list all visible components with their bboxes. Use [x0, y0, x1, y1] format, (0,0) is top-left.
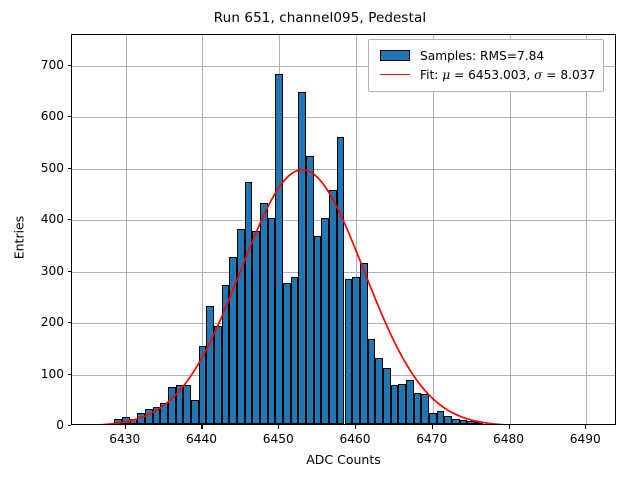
y-tick-label-300: 300 [41, 264, 64, 278]
y-tick-mark-0 [68, 425, 72, 426]
x-tick-mark-6480 [509, 425, 510, 429]
y-tick-label-200: 200 [41, 315, 64, 329]
y-tick-label-100: 100 [41, 367, 64, 381]
y-tick-mark-400 [68, 219, 72, 220]
y-tick-label-400: 400 [41, 212, 64, 226]
x-tick-label-6430: 6430 [109, 432, 140, 446]
y-tick-mark-500 [68, 168, 72, 169]
legend-item-samples: Samples: RMS=7.84 [377, 46, 595, 65]
x-tick-mark-6440 [201, 425, 202, 429]
legend-patch-icon [377, 50, 413, 61]
y-tick-label-500: 500 [41, 161, 64, 175]
legend: Samples: RMS=7.84 Fit: μ = 6453.003, σ =… [368, 39, 604, 92]
y-tick-label-600: 600 [41, 109, 64, 123]
histogram-figure: Run 651, channel095, Pedestal 0100200300… [0, 0, 640, 480]
x-tick-label-6480: 6480 [493, 432, 524, 446]
x-tick-label-6450: 6450 [263, 432, 294, 446]
legend-label-samples: Samples: RMS=7.84 [420, 49, 544, 63]
gaussian-fit-curve [72, 35, 615, 424]
plot-area [71, 34, 616, 425]
y-tick-mark-300 [68, 271, 72, 272]
legend-item-fit: Fit: μ = 6453.003, σ = 8.037 [377, 65, 595, 84]
y-tick-mark-700 [68, 65, 72, 66]
x-axis-label: ADC Counts [71, 452, 616, 467]
x-tick-mark-6430 [125, 425, 126, 429]
y-axis-label: Entries [11, 216, 26, 260]
y-tick-mark-200 [68, 322, 72, 323]
x-tick-mark-6450 [278, 425, 279, 429]
x-tick-mark-6460 [355, 425, 356, 429]
fit-path [80, 170, 525, 425]
x-tick-label-6460: 6460 [339, 432, 370, 446]
x-tick-mark-6490 [585, 425, 586, 429]
y-tick-mark-600 [68, 116, 72, 117]
page-title: Run 651, channel095, Pedestal [0, 10, 640, 26]
legend-label-fit: Fit: μ = 6453.003, σ = 8.037 [420, 68, 595, 82]
y-tick-label-0: 0 [56, 418, 64, 432]
legend-fit-text: Fit: μ = 6453.003, σ = 8.037 [420, 68, 595, 82]
x-tick-mark-6470 [432, 425, 433, 429]
x-tick-label-6490: 6490 [570, 432, 601, 446]
x-tick-label-6470: 6470 [416, 432, 447, 446]
x-tick-label-6440: 6440 [186, 432, 217, 446]
y-tick-label-700: 700 [41, 58, 64, 72]
y-tick-mark-100 [68, 374, 72, 375]
legend-line-icon [377, 74, 413, 75]
